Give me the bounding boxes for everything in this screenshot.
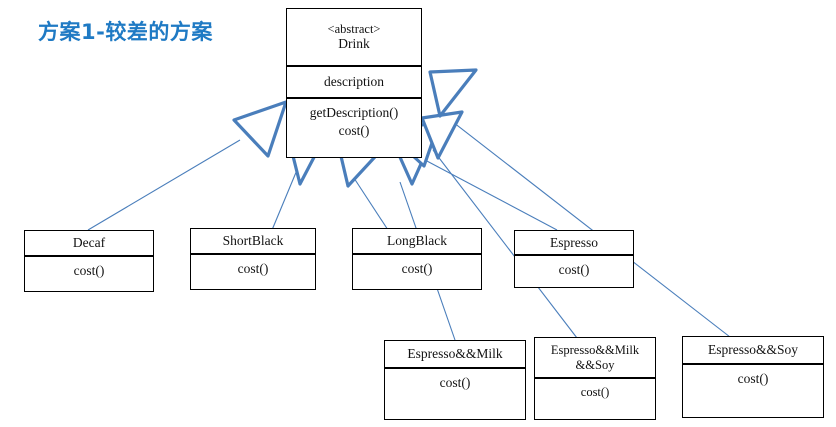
class-box-espressomilksoy[interactable]: Espresso&&Milk &&Soy cost() <box>534 337 656 420</box>
operation-cost: cost() <box>28 262 150 280</box>
operation-cost: cost() <box>538 384 652 401</box>
operation-cost: cost() <box>356 260 478 278</box>
class-operations-longblack: cost() <box>353 255 481 280</box>
class-operations-espresso: cost() <box>515 256 633 281</box>
arrowhead-decaf <box>234 102 286 156</box>
operation-cost: cost() <box>290 122 418 140</box>
class-name-espressomilk: Espresso&&Milk <box>407 346 502 362</box>
edge-espressosoy-drink <box>440 112 730 337</box>
edge-espresso-drink <box>425 160 557 230</box>
class-operations-shortblack: cost() <box>191 255 315 280</box>
class-box-drink[interactable]: <abstract> Drink description getDescript… <box>286 8 422 158</box>
class-box-decaf[interactable]: Decaf cost() <box>24 230 154 292</box>
class-box-espresso[interactable]: Espresso cost() <box>514 230 634 288</box>
class-operations-drink: getDescription() cost() <box>287 99 421 142</box>
operation-cost: cost() <box>388 374 522 392</box>
class-header-drink: <abstract> Drink <box>287 9 421 67</box>
class-box-longblack[interactable]: LongBlack cost() <box>352 228 482 290</box>
class-name-espresso: Espresso <box>550 235 598 251</box>
operation-cost: cost() <box>194 260 312 278</box>
class-stereotype-drink: <abstract> <box>328 22 381 37</box>
page-title: 方案1-较差的方案 <box>38 16 213 46</box>
class-name-shortblack: ShortBlack <box>223 233 284 249</box>
operation-getdescription: getDescription() <box>290 104 418 122</box>
class-header-espressomilk: Espresso&&Milk <box>385 341 525 369</box>
edge-longblack-drink <box>352 175 388 230</box>
class-operations-espressomilksoy: cost() <box>535 379 655 403</box>
class-attributes-drink: description <box>287 67 421 99</box>
class-box-espressomilk[interactable]: Espresso&&Milk cost() <box>384 340 526 420</box>
class-box-espressosoy[interactable]: Espresso&&Soy cost() <box>682 336 824 418</box>
class-header-espressosoy: Espresso&&Soy <box>683 337 823 365</box>
edge-shortblack-drink <box>272 170 297 230</box>
class-name-decaf: Decaf <box>73 235 105 251</box>
arrowhead-espressomilksoy <box>422 112 462 158</box>
class-header-shortblack: ShortBlack <box>191 229 315 255</box>
class-header-decaf: Decaf <box>25 231 153 257</box>
class-name-longblack: LongBlack <box>387 233 447 249</box>
class-operations-decaf: cost() <box>25 257 153 282</box>
class-name-espressomilksoy-line1: Espresso&&Milk <box>551 343 639 358</box>
class-header-espresso: Espresso <box>515 231 633 256</box>
slide-canvas: 方案1-较差的方案 <abstract> Drink description g… <box>0 0 836 427</box>
class-header-longblack: LongBlack <box>353 229 481 255</box>
operation-cost: cost() <box>518 261 630 279</box>
class-operations-espressomilk: cost() <box>385 369 525 394</box>
operation-cost: cost() <box>686 370 820 388</box>
attribute-description: description <box>324 74 384 90</box>
class-name-espressosoy: Espresso&&Soy <box>708 342 798 358</box>
class-name-drink: Drink <box>338 36 370 52</box>
class-name-espressomilksoy-line2: &&Soy <box>576 358 615 373</box>
class-operations-espressosoy: cost() <box>683 365 823 390</box>
edge-decaf-drink <box>88 140 240 230</box>
arrowhead-espressosoy <box>430 70 476 116</box>
class-header-espressomilksoy: Espresso&&Milk &&Soy <box>535 338 655 379</box>
class-box-shortblack[interactable]: ShortBlack cost() <box>190 228 316 290</box>
